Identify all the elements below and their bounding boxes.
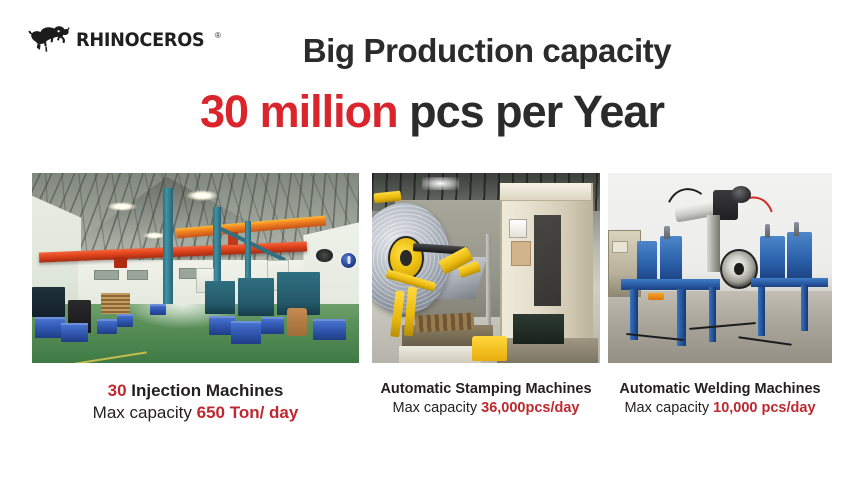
injection-molding-hall-photo bbox=[32, 173, 359, 363]
caption-capacity-prefix: Max capacity bbox=[392, 400, 481, 416]
injection-machine bbox=[32, 287, 65, 317]
welding-unit bbox=[660, 236, 682, 284]
caption-title-text: Injection Machines bbox=[127, 381, 284, 400]
bench-leg bbox=[801, 285, 808, 331]
caption-capacity: Max capacity 650 Ton/ day bbox=[32, 402, 359, 424]
robot-column bbox=[707, 215, 720, 272]
headline-rest: pcs per Year bbox=[398, 86, 664, 137]
bench-leg bbox=[709, 287, 717, 342]
press-nameplate bbox=[511, 241, 531, 266]
headline-highlight: 30 million bbox=[200, 86, 398, 137]
skylight bbox=[422, 177, 458, 190]
blue-crate bbox=[117, 314, 133, 327]
injection-machine bbox=[205, 281, 234, 313]
page-title: Big Production capacity bbox=[0, 33, 864, 69]
photo-panel-stamping bbox=[372, 173, 600, 363]
caption-title: Automatic Welding Machines bbox=[608, 380, 832, 399]
wall-fan bbox=[316, 249, 332, 262]
caption-row: 30 Injection Machines Max capacity 650 T… bbox=[32, 380, 832, 440]
blue-crate bbox=[61, 323, 87, 342]
welding-electrode-head bbox=[664, 226, 670, 239]
photo-gallery bbox=[32, 173, 832, 363]
caption-capacity: Max capacity 10,000 pcs/day bbox=[608, 399, 832, 418]
blue-crate bbox=[313, 319, 346, 340]
steel-die-stack bbox=[513, 314, 563, 344]
presentation-slide: RHINOCEROS ® Big Production capacity 30 … bbox=[0, 0, 864, 486]
photo-panel-welding bbox=[608, 173, 832, 363]
bench-leg bbox=[630, 289, 638, 340]
caption-title: 30 Injection Machines bbox=[32, 380, 359, 402]
orange-fixture bbox=[648, 293, 664, 301]
caption-capacity-prefix: Max capacity bbox=[93, 403, 197, 422]
blue-crate bbox=[261, 317, 284, 334]
bench-leg bbox=[677, 289, 685, 346]
caption-capacity-prefix: Max capacity bbox=[624, 400, 713, 416]
caption-count: 30 bbox=[108, 381, 127, 400]
wooden-blocks bbox=[415, 312, 475, 332]
welding-unit bbox=[760, 236, 785, 282]
press-control-box bbox=[509, 219, 527, 238]
yellow-scrap-bin bbox=[472, 336, 506, 361]
caption-title-text: Automatic Stamping Machines bbox=[380, 381, 591, 397]
caption-title: Automatic Stamping Machines bbox=[372, 380, 600, 399]
ceiling-lamp bbox=[107, 202, 136, 212]
ceiling-lamp bbox=[186, 190, 219, 200]
injection-machine bbox=[238, 278, 274, 316]
press-throat bbox=[534, 215, 561, 306]
caption-welding: Automatic Welding Machines Max capacity … bbox=[608, 380, 832, 418]
caption-stamping: Automatic Stamping Machines Max capacity… bbox=[372, 380, 600, 418]
welding-unit bbox=[787, 232, 812, 281]
welding-unit bbox=[637, 241, 657, 283]
headline: 30 million pcs per Year bbox=[0, 87, 864, 137]
caption-capacity-value: 650 Ton/ day bbox=[197, 403, 299, 422]
welding-electrode-head bbox=[794, 222, 799, 235]
blue-crate bbox=[97, 319, 117, 334]
caption-capacity-value: 10,000 pcs/day bbox=[713, 400, 815, 416]
wall-window bbox=[94, 270, 119, 281]
slide-header: RHINOCEROS ® Big Production capacity 30 … bbox=[0, 0, 864, 160]
wooden-pallet bbox=[101, 293, 130, 314]
blue-crate bbox=[150, 304, 166, 315]
welding-electrode-head bbox=[765, 224, 770, 237]
caption-injection: 30 Injection Machines Max capacity 650 T… bbox=[32, 380, 359, 425]
crane-hoist bbox=[114, 257, 127, 268]
photo-panel-injection bbox=[32, 173, 359, 363]
material-sack bbox=[287, 308, 307, 337]
blue-crate bbox=[35, 317, 64, 338]
machine-post bbox=[486, 234, 491, 325]
wall-window bbox=[127, 270, 149, 281]
machine-bench bbox=[751, 278, 827, 288]
support-column bbox=[163, 188, 173, 313]
automatic-welding-machine-photo bbox=[608, 173, 832, 363]
press-crown bbox=[500, 183, 591, 201]
bench-leg bbox=[758, 287, 765, 336]
caption-capacity-value: 36,000pcs/day bbox=[481, 400, 579, 416]
caption-capacity: Max capacity 36,000pcs/day bbox=[372, 399, 600, 418]
blue-crate bbox=[231, 321, 260, 344]
machine-foundation bbox=[399, 346, 481, 363]
watermark-badge-icon bbox=[341, 253, 356, 268]
caption-title-text: Automatic Welding Machines bbox=[619, 381, 820, 397]
cabinet-label bbox=[612, 241, 627, 253]
automatic-stamping-machine-photo bbox=[372, 173, 600, 363]
